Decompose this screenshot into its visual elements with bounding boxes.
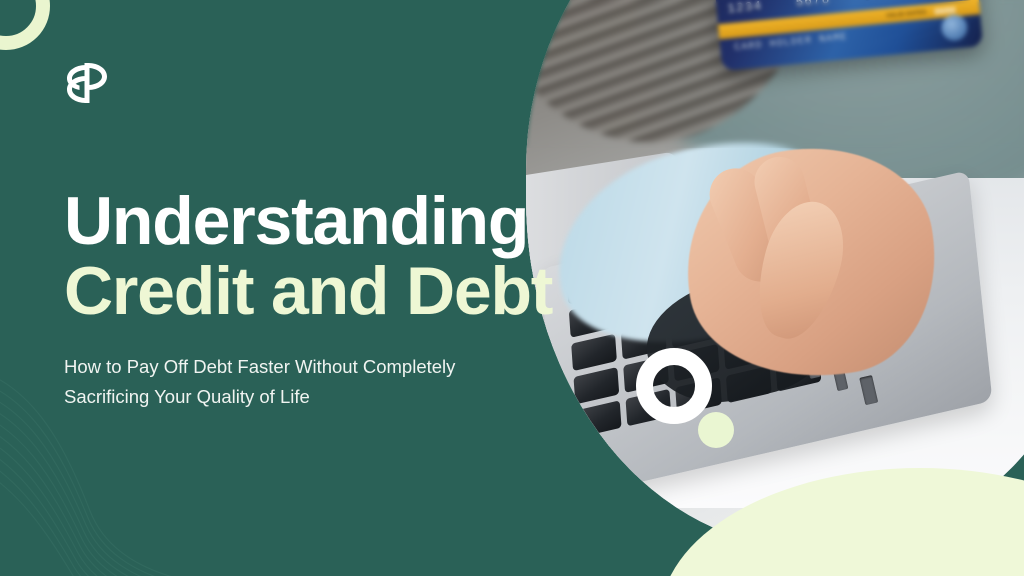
subtitle-line-2: Sacrificing Your Quality of Life — [64, 382, 514, 412]
card-valid-label: VALID DATES — [886, 9, 927, 19]
ring-decoration — [636, 348, 712, 424]
headline-line-1: Understanding — [64, 186, 624, 256]
page-subtitle: How to Pay Off Debt Faster Without Compl… — [64, 352, 514, 412]
subtitle-line-1: How to Pay Off Debt Faster Without Compl… — [64, 352, 514, 382]
page-title: Understanding Credit and Debt — [64, 186, 624, 326]
banner-canvas: CREDIT CARD 1234 5678 9012 3456 VALID DA… — [0, 0, 1024, 576]
interlocking-rings-logo-icon[interactable] — [64, 60, 110, 106]
dot-decoration — [698, 412, 734, 448]
headline-line-2: Credit and Debt — [64, 256, 624, 326]
